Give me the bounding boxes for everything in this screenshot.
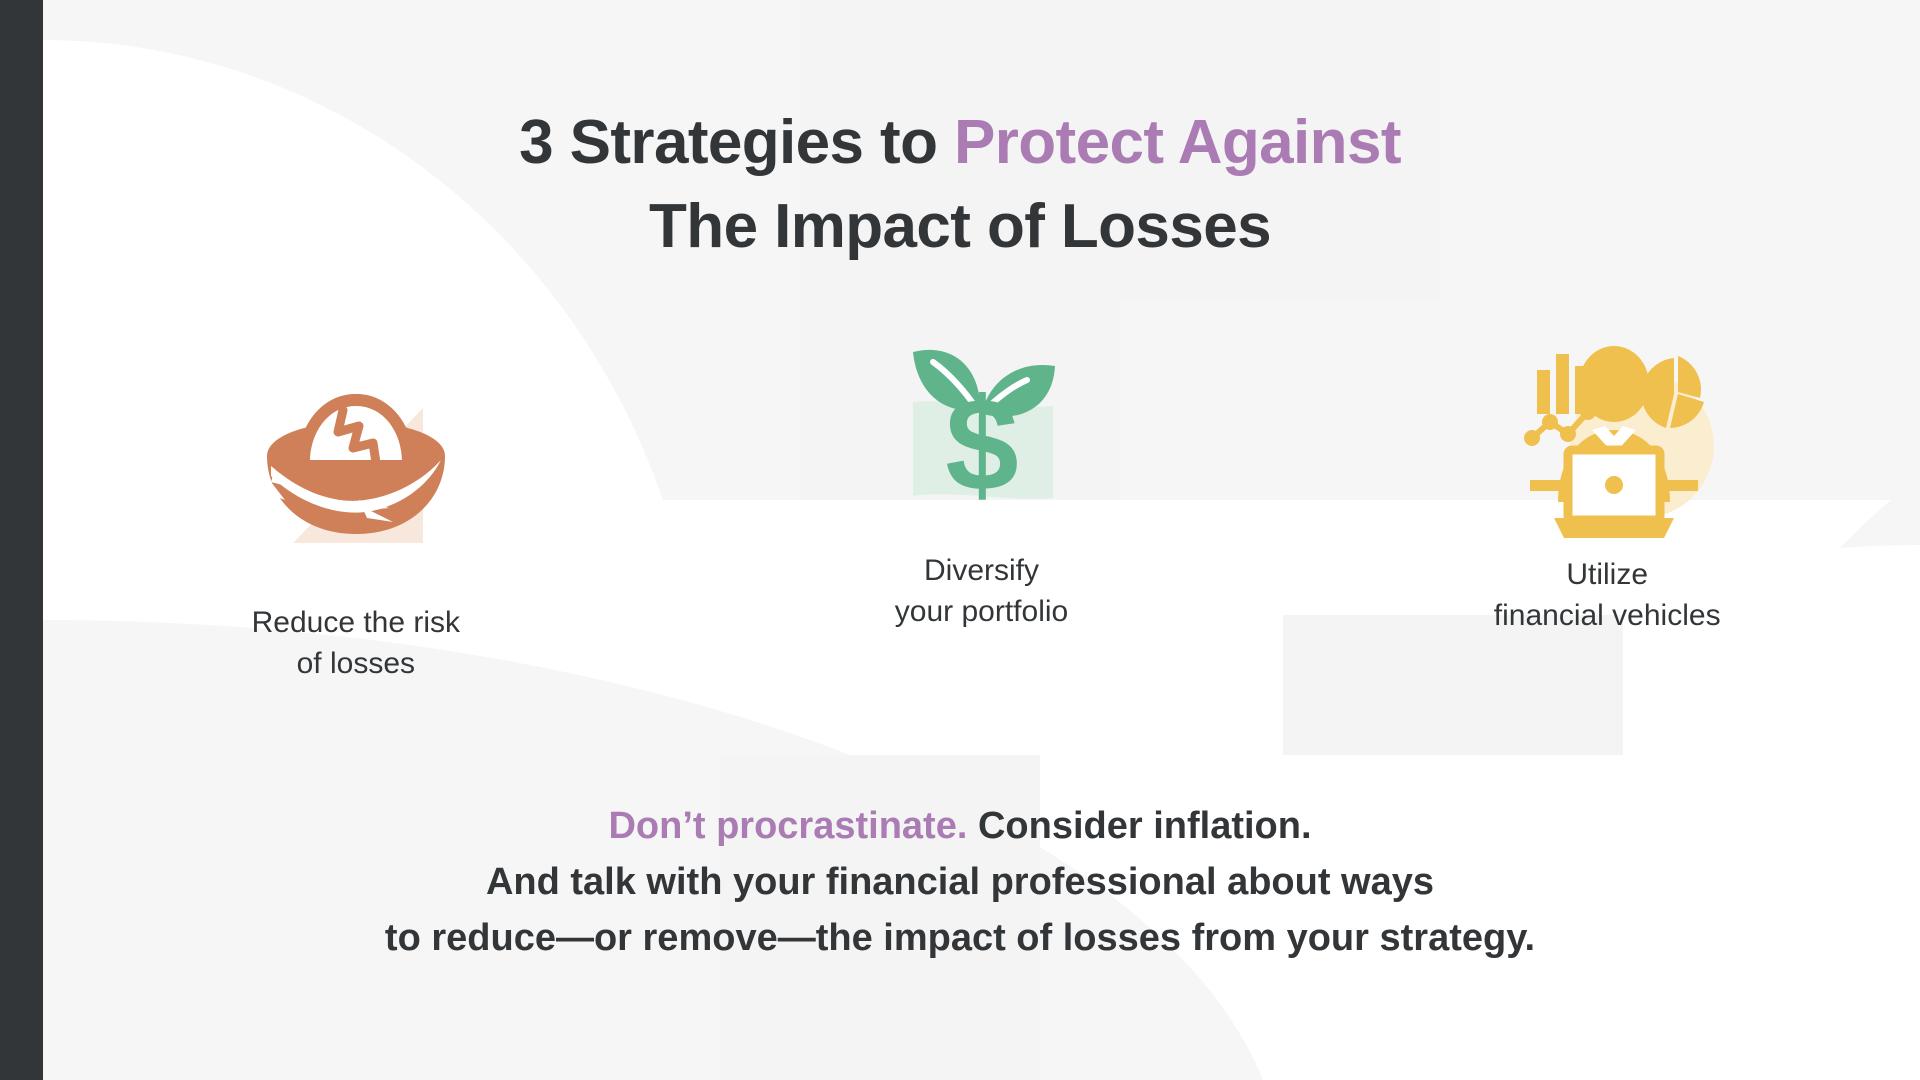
closing-line-1: Don’t procrastinate. Consider inflation. (0, 798, 1920, 854)
title-accent: Protect Against (954, 108, 1401, 177)
nest-egg-icon (241, 348, 471, 578)
strategy-column-diversify: $ Diversify your portfolio (669, 330, 1295, 690)
slide-canvas: 3 Strategies to Protect Against The Impa… (0, 0, 1920, 1080)
strategy-column-utilize: Utilize financial vehicles (1294, 330, 1920, 690)
closing-line-3: to reduce—or remove—the impact of losses… (0, 910, 1920, 966)
strategy-label: Diversify your portfolio (895, 550, 1068, 633)
title-line-1: 3 Strategies to Protect Against (0, 112, 1920, 174)
strategy-label: Reduce the risk of losses (252, 602, 460, 685)
money-plant-icon: $ (867, 306, 1097, 536)
title-prefix: 3 Strategies to (519, 108, 954, 177)
strategy-column-reduce-risk: Reduce the risk of losses (43, 330, 669, 690)
strategy-label: Utilize financial vehicles (1494, 554, 1721, 637)
title-line-2: The Impact of Losses (0, 196, 1920, 258)
analyst-laptop-icon (1492, 322, 1722, 552)
closing-paragraph: Don’t procrastinate. Consider inflation.… (0, 798, 1920, 967)
closing-line-2: And talk with your financial professiona… (0, 854, 1920, 910)
closing-accent: Don’t procrastinate. (608, 805, 967, 847)
strategy-columns: Reduce the risk of losses $ Diversify (43, 330, 1920, 690)
closing-line-1-rest: Consider inflation. (967, 805, 1311, 847)
svg-text:$: $ (945, 371, 1018, 518)
slide-title: 3 Strategies to Protect Against The Impa… (0, 112, 1920, 258)
